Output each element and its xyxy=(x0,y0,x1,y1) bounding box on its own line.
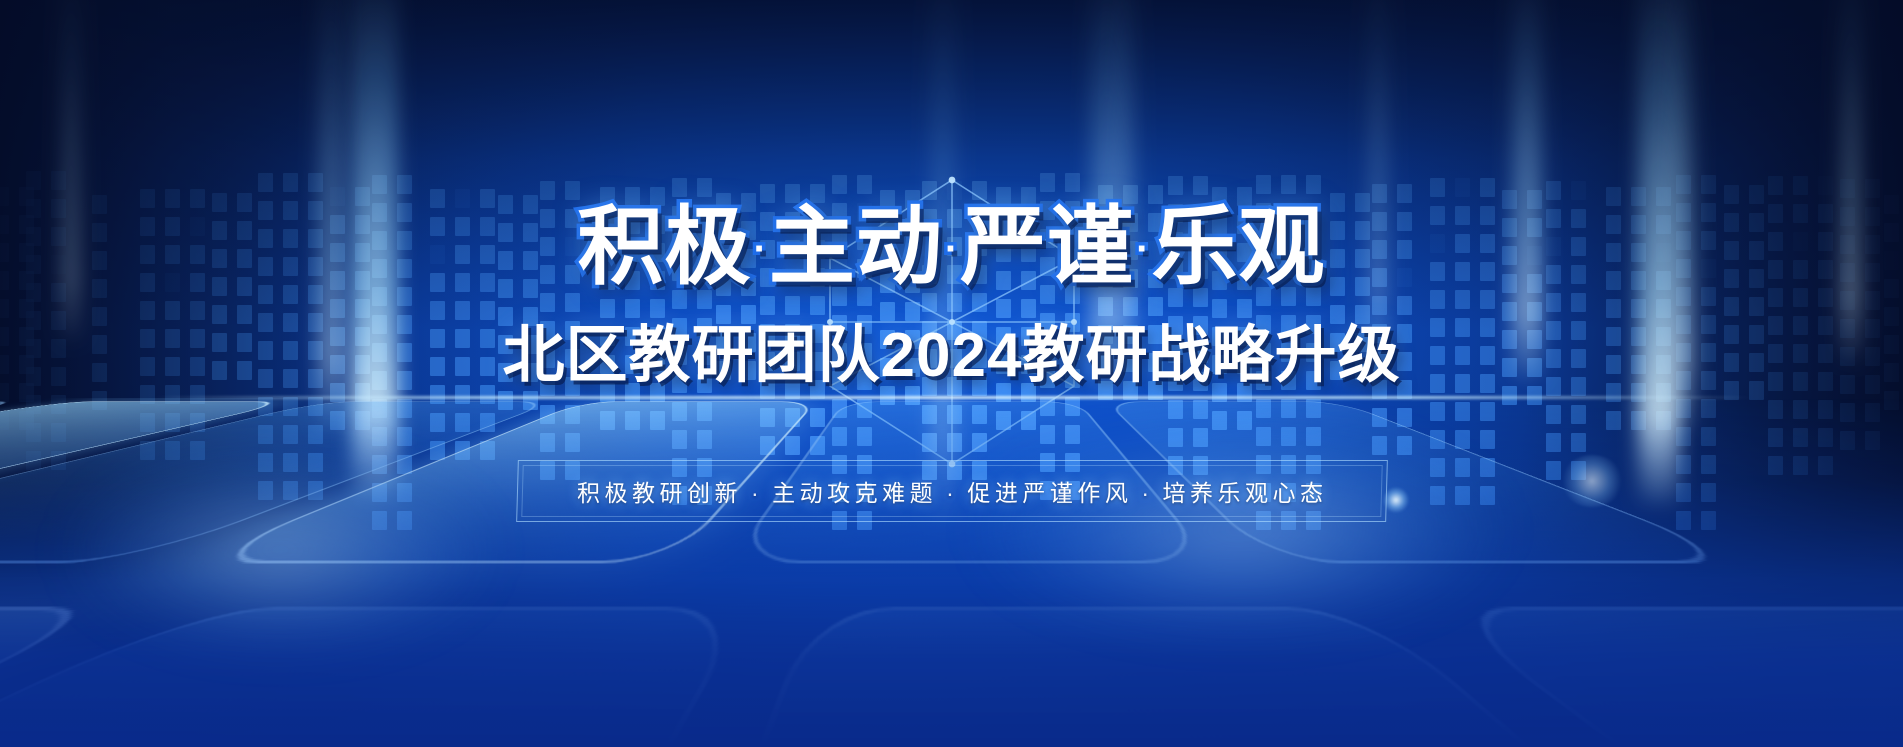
light-beam xyxy=(1512,0,1542,380)
tagline-item-2: 主动攻克难题 xyxy=(771,480,936,506)
floor-sheen-left xyxy=(70,455,490,645)
event-banner: 积极·主动·严谨·乐观 北区教研团队2024教研战略升级 积极教研创新·主动攻克… xyxy=(0,0,1903,747)
tagline-text: 积极教研创新·主动攻克难题·促进严谨作风·培养乐观心态 xyxy=(576,474,1327,508)
banner-main-title: 积极·主动·严谨·乐观 xyxy=(0,204,1903,290)
main-title-separator-3: · xyxy=(1136,227,1149,271)
tagline-separator-3: · xyxy=(1141,480,1153,506)
main-title-word-2: 主动 xyxy=(769,199,943,295)
light-beam xyxy=(1118,0,1136,360)
tagline-item-4: 培养乐观心态 xyxy=(1162,480,1327,506)
tagline-separator-1: · xyxy=(750,480,762,506)
horizon-light-line xyxy=(152,396,1751,399)
main-title-word-1: 积极 xyxy=(578,199,752,295)
banner-subtitle: 北区教研团队2024教研战略升级 xyxy=(0,325,1903,387)
main-title-word-4: 乐观 xyxy=(1151,199,1325,295)
light-beam xyxy=(1840,0,1862,360)
main-title-separator-1: · xyxy=(754,227,767,271)
light-beam xyxy=(1368,0,1388,350)
main-title-separator-2: · xyxy=(945,227,958,271)
tagline-frame: 积极教研创新·主动攻克难题·促进严谨作风·培养乐观心态 xyxy=(516,460,1388,522)
tagline-separator-2: · xyxy=(945,480,957,506)
tagline-item-3: 促进严谨作风 xyxy=(967,480,1132,506)
main-title-word-3: 严谨 xyxy=(960,199,1134,295)
tagline-item-1: 积极教研创新 xyxy=(576,480,741,506)
floor-glow-orb-secondary xyxy=(1560,455,1624,507)
